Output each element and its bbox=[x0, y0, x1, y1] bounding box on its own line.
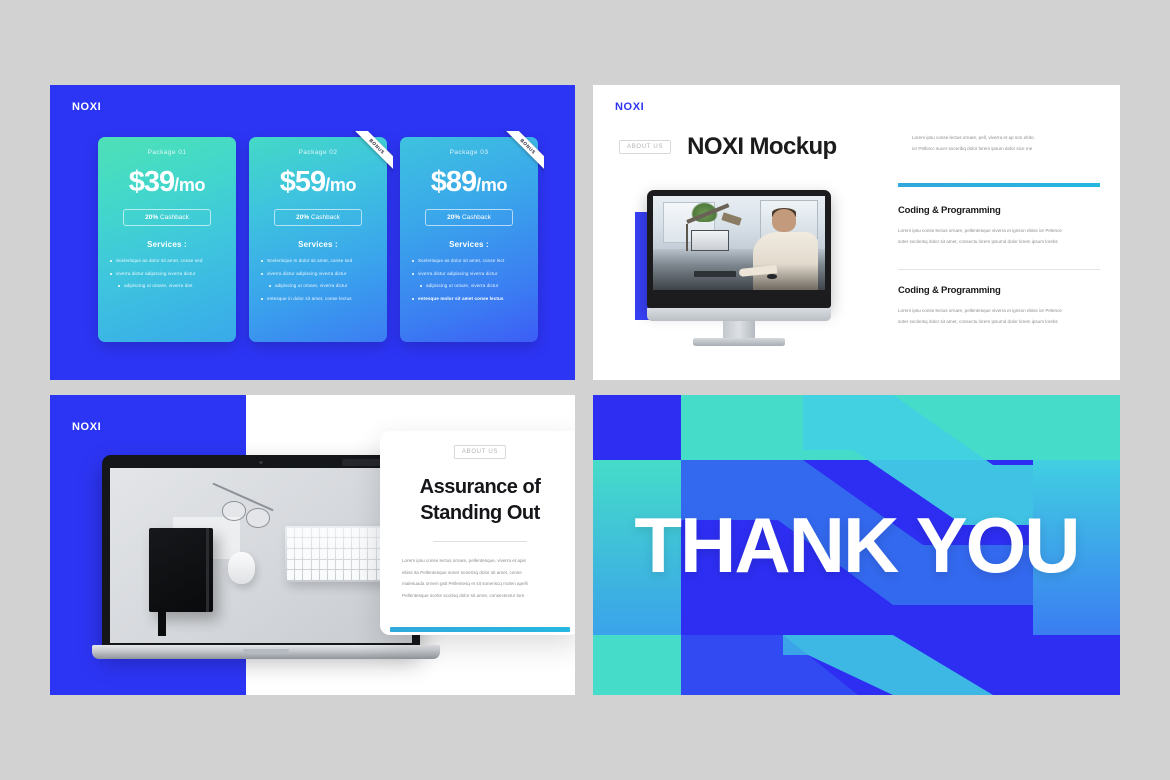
body-line: ebiss ita Pellentesque soner sonerisq do… bbox=[402, 567, 558, 578]
package-label: Package 03 bbox=[400, 149, 538, 156]
thank-you-title: THANK YOU bbox=[593, 395, 1120, 695]
service-item: adipiscing ut ornare, viverra diet bbox=[107, 283, 227, 289]
photo-glasses-lens bbox=[246, 508, 270, 527]
laptop-photo bbox=[110, 468, 412, 643]
pricing-card[interactable]: Package 03 $89/mo 20% Cashback Services … bbox=[400, 137, 538, 342]
title-line: Standing Out bbox=[402, 501, 558, 527]
services-title: Services : bbox=[98, 240, 236, 249]
photo-keyboard bbox=[694, 271, 735, 277]
service-item: entesque molor sit amet conse lectus bbox=[409, 296, 529, 302]
body-line: Lorem ipsu conse lectus ornare, pellente… bbox=[402, 555, 558, 566]
service-item: adipiscing ut ornare, viverra dictur bbox=[409, 283, 529, 289]
logo-noxi: NOXI bbox=[72, 101, 101, 113]
accent-bar bbox=[898, 183, 1100, 187]
monitor-chin bbox=[647, 308, 831, 321]
accent-bar-wrap bbox=[380, 627, 575, 632]
price-value: $89/mo bbox=[400, 168, 538, 197]
cashback-button[interactable]: 20% Cashback bbox=[123, 209, 211, 226]
service-item: viverra dictur adipiscing viverra dictur bbox=[107, 271, 227, 277]
services-title: Services : bbox=[400, 240, 538, 249]
services-list: Scelerisque as dolor sit amet, conse lec… bbox=[400, 258, 538, 302]
photo-notebook bbox=[149, 528, 212, 612]
body-line: Lorem ipsu conse lectus ornare, pellente… bbox=[898, 225, 1100, 236]
cashback-button[interactable]: 20% Cashback bbox=[425, 209, 513, 226]
service-item: Scelerisque as dolor sit amet, conse lec… bbox=[409, 258, 529, 264]
service-item: viverra dictur adipiscing viverra dictur bbox=[258, 271, 378, 277]
section-body: Lorem ipsu conse lectus ornare, pellente… bbox=[898, 225, 1100, 247]
services-title: Services : bbox=[249, 240, 387, 249]
laptop-lid bbox=[102, 455, 420, 651]
photo-lamp-post bbox=[686, 224, 689, 250]
page-title: Assurance of Standing Out bbox=[402, 475, 558, 526]
service-item: adipiscing ut ornare, viverra dictur bbox=[258, 283, 378, 289]
logo-noxi: NOXI bbox=[72, 421, 101, 433]
price-amount: $59 bbox=[280, 166, 325, 198]
cashback-percent: 20% bbox=[447, 214, 460, 221]
service-item: Scelerisque m dolor sit amet, conse sed bbox=[258, 258, 378, 264]
content-section: Coding & Programming Lorem ipsu conse le… bbox=[898, 205, 1100, 247]
photo-person-body bbox=[753, 232, 818, 290]
services-list: Scelerisque m dolor sit amet, conse sed … bbox=[249, 258, 387, 302]
cashback-label: Cashback bbox=[160, 214, 189, 221]
body-line: Pellentesque scelor scorisq dolor sit am… bbox=[402, 590, 558, 601]
title-line: Assurance of bbox=[402, 475, 558, 501]
price-value: $59/mo bbox=[249, 168, 387, 197]
price-value: $39/mo bbox=[98, 168, 236, 197]
logo-noxi: NOXI bbox=[615, 101, 644, 113]
price-amount: $89 bbox=[431, 166, 476, 198]
photo-glasses-lens bbox=[222, 501, 246, 520]
cashback-percent: 20% bbox=[145, 214, 158, 221]
content-section: Coding & Programming Lorem ipsu conse le… bbox=[898, 285, 1100, 327]
service-item: Scelerisque as dolor sit amet, conse sed bbox=[107, 258, 227, 264]
package-label: Package 01 bbox=[98, 149, 236, 156]
cashback-label: Cashback bbox=[462, 214, 491, 221]
photo-person-head bbox=[772, 209, 796, 232]
price-period: /mo bbox=[476, 175, 507, 195]
photo-keyboard bbox=[285, 526, 394, 582]
pricing-card-list: Package 01 $39/mo 20% Cashback Services … bbox=[98, 137, 538, 342]
price-period: /mo bbox=[325, 175, 356, 195]
monitor-mockup bbox=[635, 190, 843, 350]
slide-thankyou: THANK YOU bbox=[593, 395, 1120, 695]
section-divider bbox=[898, 269, 1100, 270]
mockup-header: ABOUT US NOXI Mockup bbox=[619, 133, 837, 161]
section-heading: Coding & Programming bbox=[898, 285, 1100, 296]
slide-assurance: NOXI bbox=[50, 395, 575, 695]
laptop-camera-icon bbox=[260, 461, 263, 464]
services-list: Scelerisque as dolor sit amet, conse sed… bbox=[98, 258, 236, 289]
pricing-card[interactable]: Package 01 $39/mo 20% Cashback Services … bbox=[98, 137, 236, 342]
title-rule bbox=[433, 541, 527, 542]
intro-paragraph: Lorem ipsu conse lectus ornare, pell, vi… bbox=[912, 133, 1100, 154]
monitor-photo bbox=[653, 196, 825, 290]
section-body: Lorem ipsu conse lectus ornare, pellente… bbox=[898, 305, 1100, 327]
cashback-label: Cashback bbox=[311, 214, 340, 221]
intro-line: ior Pellorcc sucer soceribq dolor lorem … bbox=[912, 144, 1100, 155]
slide-mockup: NOXI ABOUT US NOXI Mockup Lorem ipsu con… bbox=[593, 85, 1120, 380]
page-title: NOXI Mockup bbox=[687, 133, 836, 161]
photo-mouse bbox=[228, 552, 255, 584]
service-item: viverra dictur adipiscing viverra dictur bbox=[409, 271, 529, 277]
price-amount: $39 bbox=[129, 166, 174, 198]
package-label: Package 02 bbox=[249, 149, 387, 156]
section-heading: Coding & Programming bbox=[898, 205, 1100, 216]
monitor-bezel bbox=[647, 190, 831, 308]
about-us-badge: ABOUT US bbox=[454, 445, 506, 459]
monitor-base bbox=[693, 338, 785, 346]
cashback-percent: 20% bbox=[296, 214, 309, 221]
slide-pricing: NOXI Package 01 $39/mo 20% Cashback Serv… bbox=[50, 85, 575, 380]
body-line: Lorem ipsu conse lectus ornare, pellente… bbox=[898, 305, 1100, 316]
intro-line: Lorem ipsu conse lectus ornare, pell, vi… bbox=[912, 133, 1100, 144]
photo-mouse bbox=[767, 274, 777, 279]
body-paragraph: Lorem ipsu conse lectus ornare, pellente… bbox=[402, 555, 558, 601]
cashback-button[interactable]: 20% Cashback bbox=[274, 209, 362, 226]
service-item: entesque in dolor sit amet, conse lectus bbox=[258, 296, 378, 302]
slide-board: NOXI Package 01 $39/mo 20% Cashback Serv… bbox=[0, 0, 1170, 780]
body-line: soter soclerisq dolor sit amet, consectu… bbox=[898, 316, 1100, 327]
photo-monitor bbox=[691, 230, 729, 251]
pricing-card[interactable]: Package 02 $59/mo 20% Cashback Services … bbox=[249, 137, 387, 342]
about-us-badge: ABOUT US bbox=[619, 140, 671, 154]
price-period: /mo bbox=[174, 175, 205, 195]
assurance-card: ABOUT US Assurance of Standing Out Lorem… bbox=[380, 431, 575, 635]
photo-notebook-band bbox=[158, 608, 166, 636]
body-line: soter soclerisq dolor sit amet, consectu… bbox=[898, 236, 1100, 247]
body-line: malesuada ornem gsit Pellentesq et sit s… bbox=[402, 578, 558, 589]
accent-bar bbox=[390, 627, 570, 632]
laptop-front-notch bbox=[243, 649, 289, 654]
